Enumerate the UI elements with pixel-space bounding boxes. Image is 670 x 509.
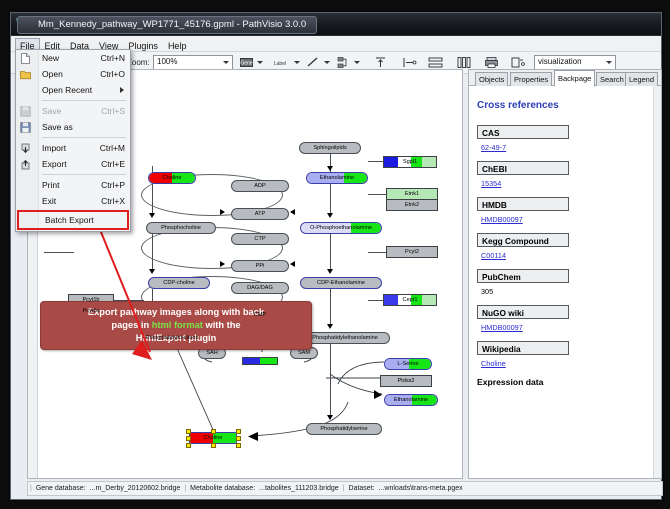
- xref-value-kegg-compound[interactable]: C00114: [481, 251, 655, 260]
- status-metabolite-db-label: Metabolite database:: [188, 485, 257, 492]
- xref-value-wikipedia[interactable]: Choline: [481, 359, 655, 368]
- xref-value-chebi[interactable]: 15354: [481, 179, 655, 188]
- window-title: Mm_Kennedy_pathway_WP1771_45176.gpml - P…: [17, 16, 317, 34]
- file-menu-label: Import: [42, 143, 66, 153]
- file-menu-item-print[interactable]: Print Ctrl+P: [16, 177, 130, 193]
- file-menu-item-new[interactable]: New Ctrl+N: [16, 50, 130, 66]
- export-icon: [20, 159, 31, 170]
- node-dag[interactable]: DAG/DAG: [231, 282, 289, 294]
- node-ethanolamine-bottom[interactable]: Ethanolamine: [384, 394, 438, 406]
- xref-label-cas: CAS: [477, 125, 569, 139]
- visualization-value: visualization: [538, 57, 582, 66]
- screenshot-frame: Mm_Kennedy_pathway_WP1771_45176.gpml - P…: [0, 0, 670, 509]
- interaction-button[interactable]: [335, 55, 350, 70]
- status-metabolite-db-value: ...tabolites_111203.bridge: [257, 485, 341, 492]
- arrow-icon: [220, 209, 225, 215]
- file-menu-label: Open Recent: [42, 85, 92, 95]
- chevron-down-icon: [606, 61, 612, 64]
- folder-open-icon: [20, 69, 31, 80]
- callout-line-2-post: with the: [203, 320, 241, 330]
- datanode-dropdown-arrow-icon[interactable]: [257, 61, 263, 64]
- edge-line: [330, 184, 331, 216]
- submenu-arrow-icon: [120, 87, 124, 93]
- file-menu-item-open-recent[interactable]: Open Recent: [16, 82, 130, 98]
- gene-pemt[interactable]: [242, 357, 278, 365]
- node-choline-selected[interactable]: Choline: [189, 432, 237, 444]
- edge-line: [368, 194, 386, 195]
- window-title-bar: Mm_Kennedy_pathway_WP1771_45176.gpml - P…: [11, 13, 661, 36]
- label-dropdown-arrow-icon[interactable]: [294, 61, 300, 64]
- resize-handle[interactable]: [211, 429, 216, 434]
- file-menu-label: Save: [42, 106, 61, 116]
- file-menu-separator: [42, 174, 126, 175]
- node-ctp[interactable]: CTP: [231, 233, 289, 245]
- datanode-button[interactable]: Gene: [239, 55, 254, 70]
- visualization-combo[interactable]: visualization: [534, 55, 616, 70]
- edge-line: [368, 252, 386, 253]
- distribute-button[interactable]: [427, 55, 444, 70]
- resize-handle[interactable]: [186, 429, 191, 434]
- edge-line: [368, 300, 383, 301]
- xref-label-pubchem: PubChem: [477, 269, 569, 283]
- file-menu-shortcut: Ctrl+X: [101, 193, 125, 209]
- arrow-icon: [290, 261, 295, 267]
- status-dataset-label: Dataset:: [347, 485, 377, 492]
- resize-handle[interactable]: [236, 443, 241, 448]
- file-menu-shortcut: Ctrl+S: [101, 103, 125, 119]
- arrow-icon: [327, 324, 333, 329]
- file-menu-label: Print: [42, 180, 59, 190]
- arrow-icon: [327, 213, 333, 218]
- status-divider: |: [28, 485, 34, 492]
- node-sphingolipids[interactable]: Sphingolipids: [299, 142, 361, 154]
- chevron-down-icon: [223, 61, 229, 64]
- file-menu-shortcut: Ctrl+M: [100, 140, 125, 156]
- xref-label-kegg-compound: Kegg Compound: [477, 233, 569, 247]
- gene-ptdss2[interactable]: Ptdss2: [380, 375, 432, 387]
- tab-legend[interactable]: Legend: [625, 72, 658, 86]
- node-o-phosphoethanolamine[interactable]: O-Phosphoethanolamine: [300, 222, 382, 234]
- file-menu-item-batch-export[interactable]: Batch Export: [17, 210, 129, 230]
- node-cdp-ethanolamine[interactable]: CDP-Ethanolamine: [300, 277, 382, 289]
- node-atp[interactable]: ATP: [231, 208, 289, 220]
- xref-label-nugo-wiki: NuGO wiki: [477, 305, 569, 319]
- resize-handle[interactable]: [236, 429, 241, 434]
- file-menu-label: Open: [42, 69, 63, 79]
- expression-data-heading: Expression data: [477, 377, 655, 387]
- arrow-icon: [220, 261, 225, 267]
- status-divider: |: [341, 485, 347, 492]
- tab-backpage[interactable]: Backpage: [554, 70, 595, 87]
- status-gene-db-label: Gene database:: [34, 485, 88, 492]
- choline-return-curve: [224, 400, 354, 444]
- save-as-icon: [20, 122, 31, 133]
- gene-sgpl1[interactable]: Sgpl1: [383, 156, 437, 168]
- file-menu-item-exit[interactable]: Exit Ctrl+X: [16, 193, 130, 209]
- tab-search[interactable]: Search: [596, 72, 628, 86]
- zoom-combo[interactable]: 100%: [153, 55, 233, 70]
- file-menu-shortcut: Ctrl+P: [101, 177, 125, 193]
- common-size-button[interactable]: [455, 55, 472, 70]
- status-bar: |Gene database:...m_Derby_20120602.bridg…: [27, 481, 663, 496]
- svg-text:Label: Label: [274, 61, 286, 67]
- file-menu-shortcut: Ctrl+O: [100, 66, 125, 82]
- node-ethanolamine-top[interactable]: Ethanolamine: [306, 172, 368, 184]
- side-panel-tabs: Objects Properties Backpage Search Legen…: [469, 70, 661, 86]
- resize-handle[interactable]: [186, 436, 191, 441]
- xref-label-wikipedia: Wikipedia: [477, 341, 569, 355]
- print-button[interactable]: [483, 55, 500, 70]
- node-adp[interactable]: ADP: [231, 180, 289, 192]
- edge-line: [330, 289, 331, 325]
- gene-cept1[interactable]: Cept1: [383, 294, 437, 306]
- line-dropdown-arrow-icon[interactable]: [324, 61, 330, 64]
- file-menu-shortcut: Ctrl+N: [101, 50, 125, 66]
- file-menu-separator: [42, 137, 126, 138]
- stack-button[interactable]: [509, 55, 526, 70]
- file-menu-label: New: [42, 53, 59, 63]
- file-menu-separator: [42, 100, 126, 101]
- status-dataset-value: ...wnloads\trans-meta.pgex: [377, 485, 465, 492]
- tab-objects[interactable]: Objects: [475, 72, 508, 86]
- file-menu-label: Exit: [42, 196, 56, 206]
- status-gene-db-value: ...m_Derby_20120602.bridge: [88, 485, 183, 492]
- file-menu-item-open[interactable]: Open Ctrl+O: [16, 66, 130, 82]
- file-menu-item-save-as[interactable]: Save as: [16, 119, 130, 135]
- edge-line: [368, 161, 384, 162]
- file-menu-item-export[interactable]: Export Ctrl+E: [16, 156, 130, 172]
- file-menu-dropdown[interactable]: New Ctrl+N Open Ctrl+O Open Recent Save …: [15, 49, 131, 232]
- side-panel: Objects Properties Backpage Search Legen…: [468, 69, 662, 479]
- xref-label-hmdb: HMDB: [477, 197, 569, 211]
- xref-value-nugo-wiki[interactable]: HMDB00097: [481, 323, 655, 332]
- resize-handle[interactable]: [236, 436, 241, 441]
- menu-help[interactable]: Help: [163, 38, 192, 53]
- file-menu-shortcut: Ctrl+E: [101, 156, 125, 172]
- pathvisio-window: Mm_Kennedy_pathway_WP1771_45176.gpml - P…: [10, 12, 662, 500]
- node-ppi[interactable]: PPi: [231, 260, 289, 272]
- zoom-value: 100%: [157, 57, 177, 66]
- interaction-dropdown-arrow-icon[interactable]: [354, 61, 360, 64]
- gene-pcyt2[interactable]: Pcyt2: [386, 246, 438, 258]
- arrow-icon: [327, 269, 333, 274]
- save-disk-icon: [20, 106, 31, 117]
- node-phosphatidylserine[interactable]: Phosphatidylserine: [306, 423, 382, 435]
- file-menu-label: Save as: [42, 122, 73, 132]
- resize-handle[interactable]: [186, 443, 191, 448]
- file-menu-item-save: Save Ctrl+S: [16, 103, 130, 119]
- svg-text:Gene: Gene: [240, 61, 252, 67]
- gene-etnk2[interactable]: Etnk2: [386, 199, 438, 211]
- xref-label-chebi: ChEBI: [477, 161, 569, 175]
- cross-references-heading: Cross references: [477, 100, 655, 111]
- new-document-icon: [20, 53, 31, 64]
- line-button[interactable]: [305, 55, 320, 70]
- side-panel-scrollbar[interactable]: [653, 86, 661, 478]
- align-top-button[interactable]: [373, 55, 388, 70]
- file-menu-item-import[interactable]: Import Ctrl+M: [16, 140, 130, 156]
- node-l-serine[interactable]: L-Serine: [384, 358, 432, 370]
- align-left-button[interactable]: [401, 55, 418, 70]
- resize-handle[interactable]: [211, 443, 216, 448]
- file-menu-label: Batch Export: [45, 215, 94, 225]
- xref-value-pubchem: 305: [481, 287, 655, 296]
- node-phosphatidylethanolamine[interactable]: Phosphatidylethanolamine: [300, 332, 390, 344]
- arrow-icon: [290, 209, 295, 215]
- tab-properties[interactable]: Properties: [510, 72, 552, 86]
- file-menu-label: Export: [42, 159, 67, 169]
- xref-value-hmdb[interactable]: HMDB00097: [481, 215, 655, 224]
- label-button[interactable]: Label: [269, 55, 291, 70]
- edge-line: [330, 234, 331, 270]
- import-icon: [20, 143, 31, 154]
- backpage-content: Cross references CAS 62-49-7 ChEBI 15354…: [477, 86, 655, 478]
- arrow-icon: [327, 166, 333, 171]
- xref-value-cas[interactable]: 62-49-7: [481, 143, 655, 152]
